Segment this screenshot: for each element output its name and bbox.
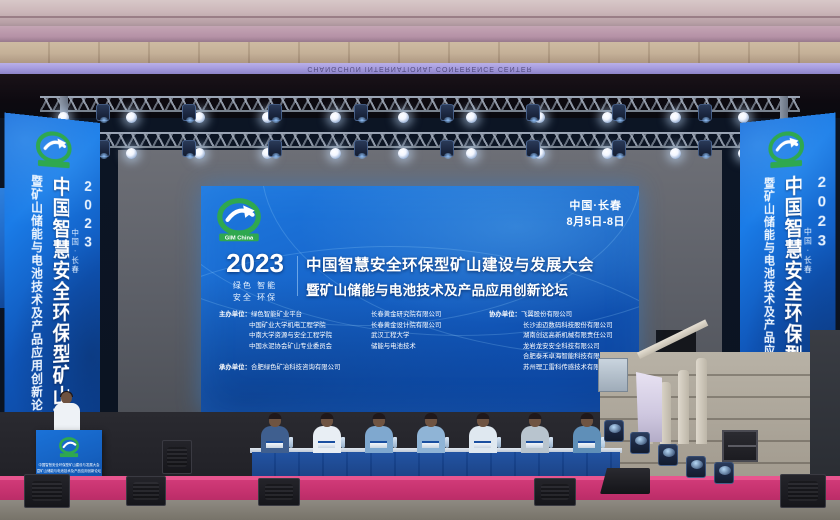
hair (581, 413, 594, 419)
host-organizer-3: 中国水泥协会矿山专业委员会 (219, 342, 371, 353)
lighting-truss-upper (40, 96, 800, 112)
stone-facade-band (0, 42, 840, 64)
truss-moving-head-light (698, 140, 712, 157)
truss-spotlight (126, 112, 137, 123)
table-nameplate (474, 441, 491, 448)
host-organizer-7: 储能与电池技术 (371, 342, 489, 353)
support-organizers-label-row: 协办单位：飞翼股份有限公司 (489, 310, 625, 321)
screen-titles: 中国智慧安全环保型矿山建设与发展大会 暨矿山储能与电池技术及产品应用创新论坛 (306, 253, 627, 299)
side-speaker-stack (162, 440, 192, 474)
hair (529, 413, 542, 419)
stage-monitor-wedge (600, 468, 650, 494)
ceiling-molding-line (0, 16, 840, 18)
step-edge (600, 418, 840, 420)
floor-speaker (780, 474, 826, 508)
svg-text:GIM China: GIM China (225, 236, 254, 242)
truss-moving-head-light (182, 140, 196, 157)
host-organizer-1: 中国矿业大学机电工程学院 (219, 321, 371, 332)
torso (54, 403, 80, 433)
speaker-person-at-podium (54, 392, 80, 432)
hair (321, 413, 334, 419)
slogan-line-2: 安全 环保 (217, 292, 293, 303)
truss-moving-head-light (354, 104, 368, 121)
truss-spotlight (466, 112, 477, 123)
stage-photograph: CHANGCHUN INTERNATIONAL CONFERENCE CENTE… (0, 0, 840, 520)
floor-speaker (258, 478, 300, 506)
venue-led-signage-strip: CHANGCHUN INTERNATIONAL CONFERENCE CENTE… (0, 63, 840, 74)
table-nameplate (370, 441, 387, 448)
table-nameplate (318, 441, 335, 448)
truss-spotlight (398, 148, 409, 159)
truss-moving-head-light (526, 140, 540, 157)
venue-signage-text: CHANGCHUN INTERNATIONAL CONFERENCE CENTE… (0, 65, 840, 72)
floor-moving-head-light (604, 420, 624, 442)
host-organizers-label: 主办单位： (219, 311, 251, 318)
podium-title-line-2: 暨矿山储能与电池技术及产品应用创新论坛 (36, 468, 102, 473)
support-organizers-label: 协办单位： (489, 311, 521, 318)
water-bottle (549, 437, 553, 448)
title-divider (297, 256, 298, 296)
floor-speaker (534, 478, 576, 506)
truss-spotlight (330, 112, 341, 123)
host-organizer-4: 长春黄金研究院有限公司 (371, 310, 489, 321)
floor-moving-head-light (714, 462, 734, 484)
table-nameplate (578, 441, 595, 448)
hair (477, 413, 490, 419)
slogan-line-1: 绿色 智能 (217, 280, 293, 291)
truss-moving-head-light (354, 140, 368, 157)
torso (365, 426, 393, 453)
floor-speaker (126, 476, 166, 506)
water-bottle (445, 437, 449, 448)
host-organizer-5: 长春黄金设计院有限公司 (371, 321, 489, 332)
truss-spotlight (466, 148, 477, 159)
banner-right-city: 中国·长春 (803, 227, 811, 298)
baluster (696, 358, 707, 444)
truss-moving-head-light (698, 104, 712, 121)
torso (417, 426, 445, 453)
truss-spotlight (398, 112, 409, 123)
truss-moving-head-light (612, 104, 626, 121)
truss-moving-head-light (182, 104, 196, 121)
vertical-banner-left: 2023 中国·长春 中国智慧安全环保型矿山建设与发展大会 暨矿山储能与电池技术… (4, 113, 100, 424)
gim-china-logo-icon (764, 126, 808, 176)
year-and-slogan-group: 2023 绿色 智能 安全 环保 (217, 248, 293, 303)
support-organizer-2: 湖南创远高新机械有限责任公司 (489, 331, 625, 342)
water-bottle (497, 437, 501, 448)
truss-moving-head-light (96, 104, 110, 121)
truss-spotlight (670, 148, 681, 159)
hair (425, 413, 438, 419)
support-organizer-1: 长沙迪迈数码科技股份有限公司 (489, 321, 625, 332)
table-nameplate (526, 441, 543, 448)
event-date-block: 中国·长春 8月5日-8日 (566, 199, 625, 231)
undertaking-unit-label: 承办单位： (219, 364, 251, 371)
truss-spotlight (330, 148, 341, 159)
floor-moving-head-light (686, 456, 706, 478)
floor-moving-head-light (658, 444, 678, 466)
torso (469, 426, 497, 453)
podium-title-line-1: 中国智慧安全环保型矿山建设与发展大会 (36, 462, 102, 467)
banner-left-sub-title: 暨矿山储能与电池技术及产品应用创新论坛 (31, 174, 43, 416)
banner-left-year: 2023 (81, 178, 95, 411)
table-nameplate (266, 441, 283, 448)
host-organizers-label-row: 主办单位：绿色智能矿业平台 (219, 310, 371, 321)
water-bottle (341, 437, 345, 448)
baluster (678, 370, 689, 444)
banner-left-city: 中国·长春 (71, 228, 78, 297)
torso (313, 426, 341, 453)
host-organizer-0: 绿色智能矿业平台 (251, 311, 302, 318)
truss-moving-head-light (440, 104, 454, 121)
floor-speaker (24, 474, 70, 508)
screen-title-row: 2023 绿色 智能 安全 环保 中国智慧安全环保型矿山建设与发展大会 暨矿山储… (217, 248, 627, 303)
gim-china-logo-icon (57, 436, 81, 460)
host-organizer-2: 中南大学资源与安全工程学院 (219, 331, 371, 342)
table-nameplate (422, 441, 439, 448)
main-led-screen: GIM China 中国·长春 8月5日-8日 2023 绿色 智能 安全 环保… (201, 186, 639, 412)
banner-left-main-title: 中国智慧安全环保型矿山建设与发展大会 (50, 176, 69, 415)
conference-sub-title: 暨矿山储能与电池技术及产品应用创新论坛 (306, 279, 627, 299)
hair (373, 413, 386, 419)
truss-moving-head-light (268, 104, 282, 121)
water-bottle (393, 437, 397, 448)
host-organizers-column-2: 长春黄金研究院有限公司 长春黄金设计院有限公司 武汉工程大学 储能与电池技术 (371, 310, 489, 373)
truss-spotlight (670, 112, 681, 123)
torso (573, 426, 601, 453)
undertaking-unit-value: 合肥绿色矿冶科技咨询有限公司 (251, 364, 340, 371)
undertaking-unit-row: 承办单位：合肥绿色矿冶科技咨询有限公司 (219, 362, 340, 371)
truss-moving-head-light (268, 140, 282, 157)
event-city: 中国·长春 (566, 199, 625, 215)
gim-china-logo-icon: GIM China (213, 196, 265, 248)
lighting-truss-lower (40, 132, 800, 148)
stage-floor-monitor (598, 358, 628, 392)
truss-moving-head-light (440, 140, 454, 157)
support-organizer-3: 龙岩龙安安全科技有限公司 (489, 342, 625, 353)
event-dates: 8月5日-8日 (566, 215, 625, 231)
step-edge (600, 396, 840, 398)
gim-china-logo-icon (32, 126, 76, 176)
event-year: 2023 (217, 248, 293, 279)
host-organizer-6: 武汉工程大学 (371, 331, 489, 342)
torso (521, 426, 549, 453)
conference-main-title: 中国智慧安全环保型矿山建设与发展大会 (306, 253, 627, 275)
hair (269, 413, 282, 419)
truss-moving-head-light (526, 104, 540, 121)
floor-moving-head-light (630, 432, 650, 454)
right-side-wall (810, 330, 840, 480)
support-organizer-0: 飞翼股份有限公司 (521, 311, 572, 318)
water-bottle (289, 437, 293, 448)
torso (261, 426, 289, 453)
equipment-flight-case (722, 430, 758, 462)
step-edge (600, 374, 840, 376)
truss-moving-head-light (612, 140, 626, 157)
truss-spotlight (126, 148, 137, 159)
